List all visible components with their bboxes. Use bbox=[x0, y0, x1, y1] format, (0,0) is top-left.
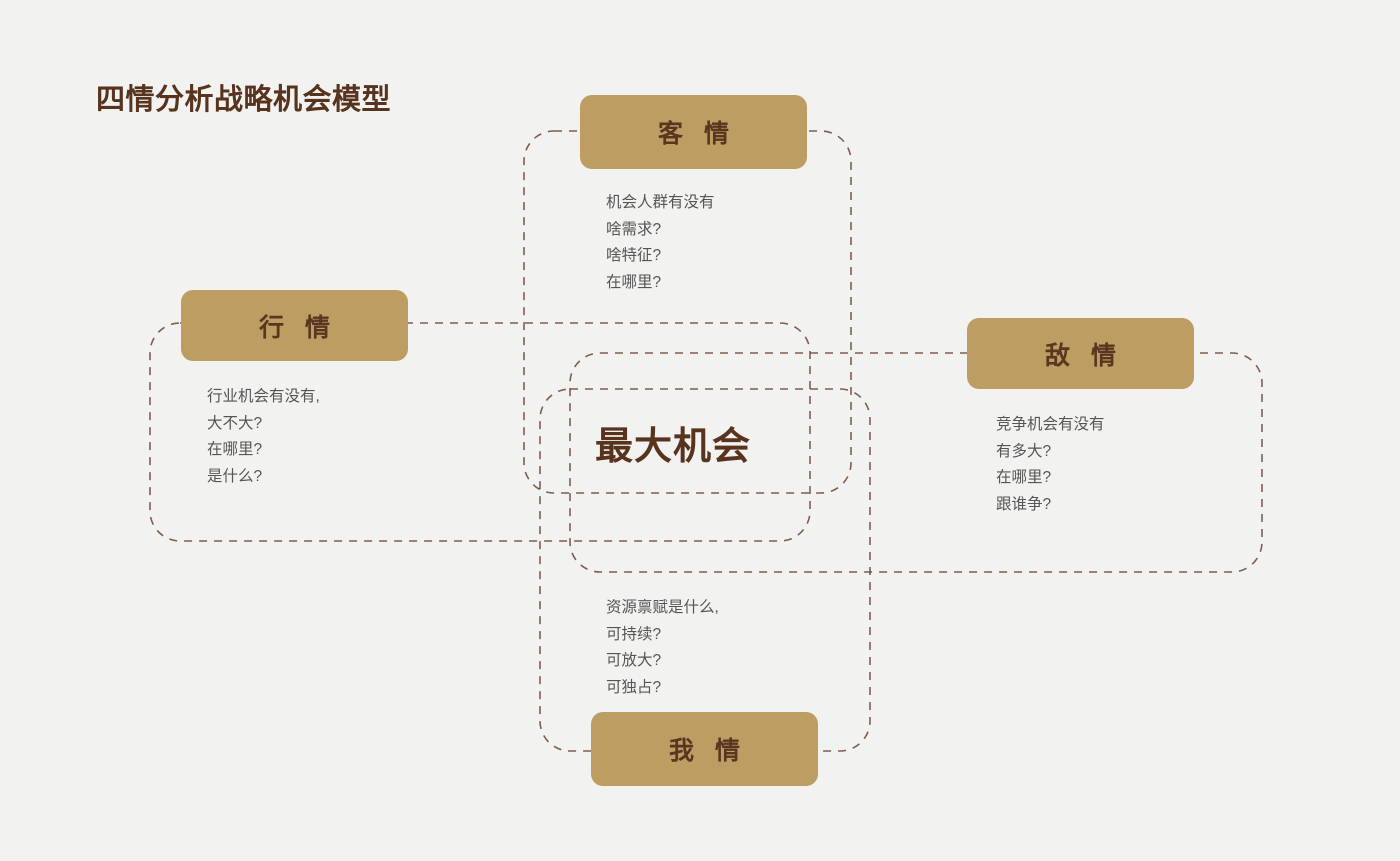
desc-line: 资源禀赋是什么, bbox=[606, 595, 719, 622]
node-desc-wo-qing: 资源禀赋是什么, 可持续? 可放大? 可独占? bbox=[606, 595, 719, 701]
desc-line: 有多大? bbox=[996, 439, 1105, 466]
desc-line: 可持续? bbox=[606, 622, 719, 649]
desc-line: 在哪里? bbox=[606, 270, 715, 297]
node-desc-xing-qing: 行业机会有没有, 大不大? 在哪里? 是什么? bbox=[207, 384, 320, 490]
desc-line: 大不大? bbox=[207, 411, 320, 438]
desc-line: 机会人群有没有 bbox=[606, 190, 715, 217]
node-box-wo-qing[interactable]: 我 情 bbox=[591, 712, 818, 786]
node-label-wo-qing: 我 情 bbox=[662, 731, 747, 767]
node-label-ke-qing: 客 情 bbox=[651, 114, 736, 150]
node-box-ke-qing[interactable]: 客 情 bbox=[580, 95, 807, 169]
center-label: 最大机会 bbox=[595, 415, 751, 470]
node-box-di-qing[interactable]: 敌 情 bbox=[967, 318, 1194, 389]
desc-line: 可放大? bbox=[606, 648, 719, 675]
desc-line: 是什么? bbox=[207, 464, 320, 491]
node-desc-di-qing: 竞争机会有没有 有多大? 在哪里? 跟谁争? bbox=[996, 412, 1105, 518]
desc-line: 啥需求? bbox=[606, 217, 715, 244]
node-label-di-qing: 敌 情 bbox=[1038, 336, 1123, 372]
desc-line: 在哪里? bbox=[996, 465, 1105, 492]
node-desc-ke-qing: 机会人群有没有 啥需求? 啥特征? 在哪里? bbox=[606, 190, 715, 296]
desc-line: 跟谁争? bbox=[996, 492, 1105, 519]
diagram-canvas: 四情分析战略机会模型 客 情 机会人群有没有 啥需求? 啥特征? 在哪里? 行 … bbox=[0, 0, 1400, 861]
page-title: 四情分析战略机会模型 bbox=[96, 76, 391, 118]
desc-line: 在哪里? bbox=[207, 437, 320, 464]
node-box-xing-qing[interactable]: 行 情 bbox=[181, 290, 408, 361]
desc-line: 行业机会有没有, bbox=[207, 384, 320, 411]
desc-line: 啥特征? bbox=[606, 243, 715, 270]
desc-line: 竞争机会有没有 bbox=[996, 412, 1105, 439]
node-label-xing-qing: 行 情 bbox=[252, 308, 337, 344]
desc-line: 可独占? bbox=[606, 675, 719, 702]
